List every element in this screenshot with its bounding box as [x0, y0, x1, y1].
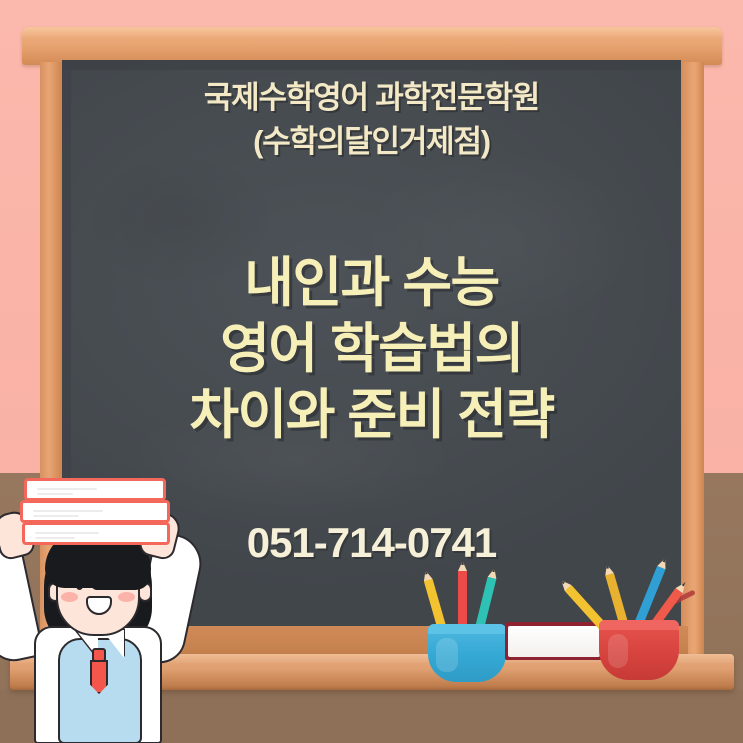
student-girl-illustration [0, 478, 240, 743]
book-stack-icon [20, 478, 170, 550]
headline-line-3: 차이와 준비 전략 [62, 388, 681, 442]
necktie-knot [92, 648, 106, 662]
red-pencil-cup-group [585, 562, 705, 667]
headline-line-1: 내인과 수능 [62, 256, 681, 310]
promotional-poster: 국제수학영어 과학전문학원 (수학의달인거제점) 내인과 수능 영어 학습법의 … [0, 0, 743, 743]
book-top [24, 478, 166, 501]
academy-name-line-1: 국제수학영어 과학전문학원 [62, 82, 681, 113]
blue-cup-icon [428, 624, 506, 682]
blush-right [118, 592, 135, 602]
headline-line-2: 영어 학습법의 [62, 322, 681, 376]
book-middle [20, 500, 170, 523]
blush-left [61, 592, 78, 602]
book-bottom [22, 522, 170, 545]
academy-name-line-2: (수학의달인거제점) [62, 126, 681, 157]
red-cup-icon [599, 620, 679, 680]
